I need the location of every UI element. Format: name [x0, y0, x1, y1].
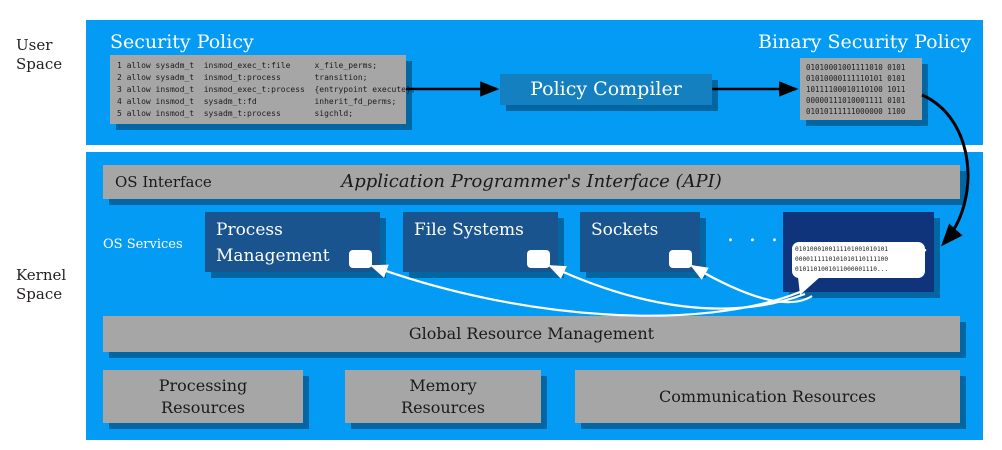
diagram-canvas: User Space Kernel Space Security Policy … — [0, 0, 1002, 450]
security-policy-code-box: 1 allow sysadm_t insmod_exec_t:file x_fi… — [110, 55, 406, 124]
port-square-process-management — [349, 250, 372, 268]
services-ellipsis: . . . — [727, 222, 782, 247]
policy-compiler-box[interactable]: Policy Compiler — [500, 74, 712, 105]
security-server-policy-bubble: 0101000100111101001010101 00001111101010… — [792, 242, 925, 278]
security-policy-code-text: 1 allow sysadm_t insmod_exec_t:file x_fi… — [110, 55, 406, 120]
global-resource-management-bar: Global Resource Management — [103, 316, 960, 352]
resource-box-communication: Communication Resources — [575, 370, 960, 423]
binary-security-policy-caption: Binary Security Policy — [758, 31, 971, 54]
security-policy-caption: Security Policy — [110, 31, 254, 54]
port-square-sockets — [669, 250, 692, 268]
global-resource-management-label: Global Resource Management — [103, 323, 960, 344]
user-space-label: User Space — [16, 36, 62, 74]
api-label: Application Programmer's Interface (API) — [103, 165, 960, 199]
resource-box-processing-label: Processing Resources — [103, 375, 303, 419]
resource-box-communication-label: Communication Resources — [575, 370, 960, 423]
os-interface-bar: OS Interface Application Programmer's In… — [103, 165, 960, 199]
os-services-label: OS Services — [103, 237, 183, 252]
service-box-security-server[interactable]: Security Server 010100010011110100101010… — [783, 212, 934, 292]
resource-box-memory-label: Memory Resources — [345, 375, 541, 419]
resource-box-memory: Memory Resources — [345, 370, 541, 423]
binary-security-policy-bits: 01010001001111010 0101 01010000111110101… — [800, 58, 922, 117]
binary-security-policy-box: 01010001001111010 0101 01010000111110101… — [800, 58, 922, 120]
kernel-space-label: Kernel Space — [16, 266, 66, 304]
resource-box-processing: Processing Resources — [103, 370, 303, 423]
port-square-file-systems — [527, 250, 550, 268]
